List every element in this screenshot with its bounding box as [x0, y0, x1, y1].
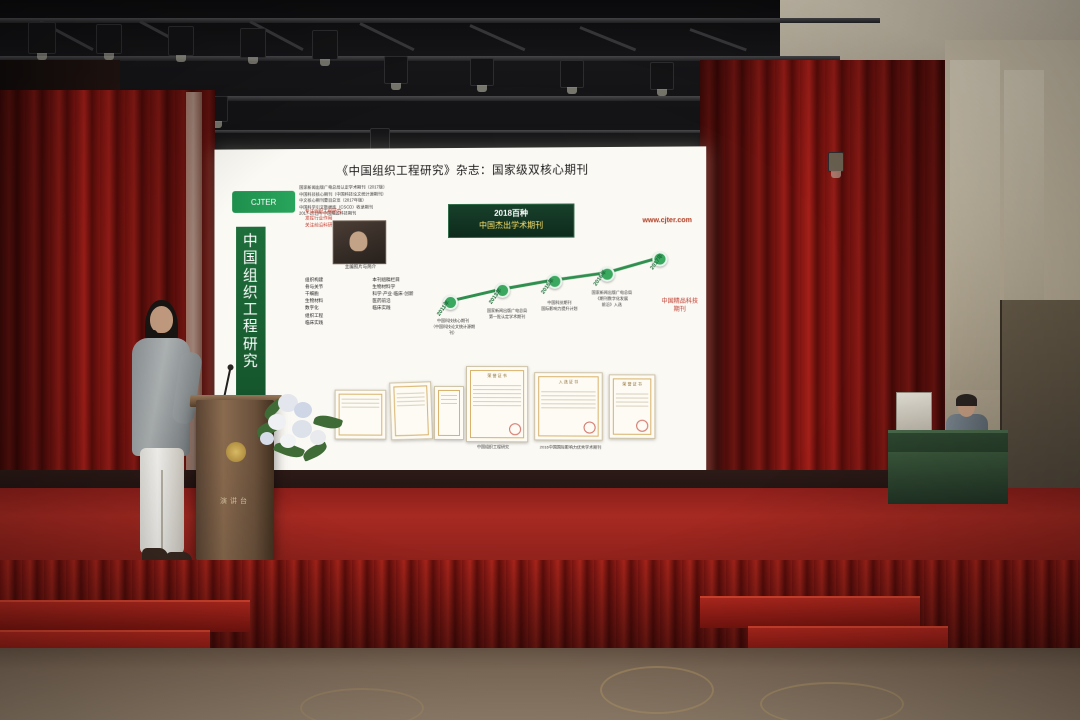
timeline-note: 中国科技核心期刊 （中国科技论文统计源期刊）	[430, 318, 476, 335]
stage-step	[700, 596, 920, 628]
award-banner-line2: 中国杰出学术期刊	[479, 220, 543, 229]
stage-light	[650, 62, 674, 90]
stage-light	[28, 22, 56, 54]
stage-light	[312, 30, 338, 60]
timeline-note: 国家新闻出版广电总局 《期刊数字化发展 前沿》入选	[589, 290, 636, 308]
head-table-cloth	[888, 452, 1008, 504]
truss-beam	[0, 18, 880, 23]
certificate-title: 荣 誉 证 书	[610, 381, 655, 387]
hall-carpet	[0, 648, 1080, 720]
journal-spine-title: 中国组织工程研究	[236, 227, 266, 416]
stage-light	[240, 28, 266, 58]
certificate	[389, 381, 433, 440]
seated-attendee-hair	[956, 394, 977, 406]
editor-portrait	[333, 220, 387, 264]
certificate-title: 荣 誉 证 书	[467, 373, 527, 379]
certificate-caption: 2016中国国际影响力优秀学术期刊	[530, 444, 611, 450]
award-banner: 2018百种 中国杰出学术期刊	[448, 203, 574, 238]
certificate: 荣 誉 证 书	[466, 366, 528, 442]
presenter-leg-gap	[161, 470, 163, 554]
stage-light	[384, 56, 408, 84]
editor-portrait-caption: 主编照片与简介	[311, 264, 410, 270]
slide-right-note: 中国精品科技期刊	[661, 298, 698, 314]
stage-light	[96, 24, 122, 54]
wall-light	[828, 152, 844, 172]
floral-arrangement	[254, 388, 346, 470]
slide-col3: 本刊组稿栏目 生物材料学 科学·产业·临床·创新 医药前沿 临床实践	[372, 276, 438, 312]
certificate-caption: 中国组织工程研究	[458, 444, 528, 450]
award-banner-line1: 2018百种	[449, 208, 573, 220]
timeline-note: 国家新闻出版广电总局 第一批认定学术期刊	[484, 308, 530, 320]
podium-emblem	[226, 442, 246, 462]
slide-title: 《中国组织工程研究》杂志：国家级双核心期刊	[264, 161, 664, 179]
timeline-note: 中国科技期刊 国际影响力提升计划	[536, 300, 582, 312]
presenter-head	[150, 306, 173, 333]
stage-step	[0, 600, 250, 632]
certificate-title: 入 选 证 书	[535, 379, 602, 385]
slide-col2-text: 组织构建 骨与关节 干细胞 生物材料 数字化 组织工程 临床实践	[305, 277, 323, 324]
stage-light	[470, 58, 494, 86]
certificate-gallery: 荣 誉 证 书 入 选 证 书 荣 誉 证 书	[299, 360, 700, 474]
journal-logo: CJTER	[232, 191, 295, 213]
journal-url: www.cjter.com	[642, 217, 692, 224]
milestone-timeline: 2011年 2013年 2015年 2016年 2017年 中国科技核心期刊 （…	[440, 243, 692, 340]
certificate: 荣 誉 证 书	[609, 374, 656, 439]
wall-panel	[950, 60, 1000, 390]
certificate: 入 选 证 书	[534, 372, 603, 441]
conference-hall-photo: 《中国组织工程研究》杂志：国家级双核心期刊 CJTER 国家新闻出版广电总局认定…	[0, 0, 1080, 720]
podium-label: 演讲台	[204, 496, 266, 506]
slide-col2: 组织构建 骨与关节 干细胞 生物材料 数字化 组织工程 临床实践	[305, 276, 370, 326]
head-table-sign	[896, 392, 932, 434]
stage-light	[168, 26, 194, 56]
stage-light	[560, 60, 584, 88]
certificate	[434, 386, 464, 440]
